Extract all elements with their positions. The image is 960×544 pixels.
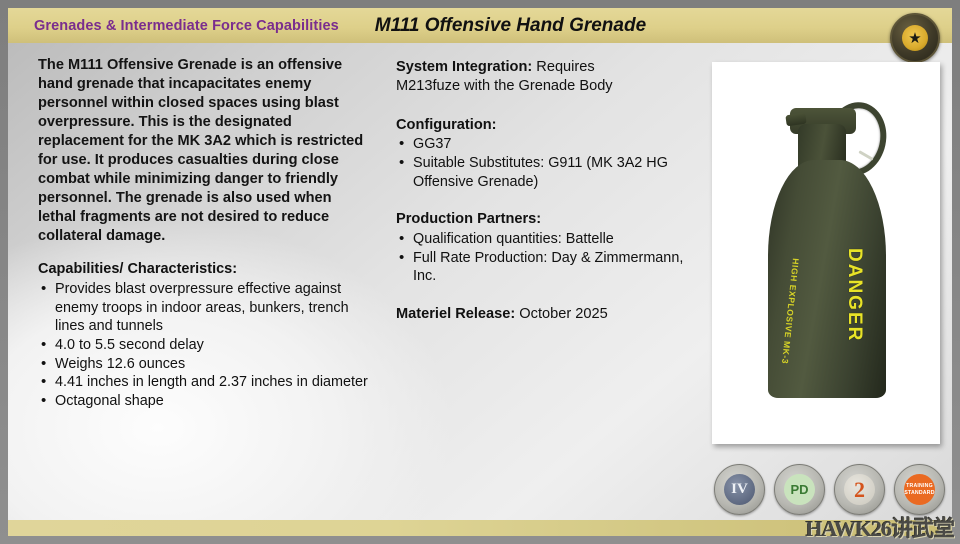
slide-canvas: Grenades & Intermediate Force Capabiliti… [0,0,960,544]
materiel-release-section: Materiel Release: October 2025 [396,305,701,324]
capabilities-heading: Capabilities/ Characteristics: [38,260,373,279]
system-integration-section: System Integration: Requires M213fuze wi… [396,58,701,97]
badge-level-2: 2 [834,464,885,515]
list-item: Full Rate Production: Day & Zimmermann, … [396,249,701,286]
production-heading: Production Partners: [396,210,701,229]
badge-label: PD [784,474,815,505]
badge-acquisition-category-iv: IV [714,464,765,515]
list-item: Qualification quantities: Battelle [396,230,701,249]
configuration-heading: Configuration: [396,116,701,135]
list-item: 4.0 to 5.5 second delay [38,336,373,355]
list-item: 4.41 inches in length and 2.37 inches in… [38,373,373,392]
list-item: Weighs 12.6 ounces [38,355,373,374]
left-column: The M111 Offensive Grenade is an offensi… [38,56,373,411]
slide-header: Grenades & Intermediate Force Capabiliti… [8,8,952,43]
badge-label: IV [724,474,755,505]
badge-pd: PD [774,464,825,515]
badge-label: TRAINING STANDARD [904,474,935,505]
badge-label: 2 [844,474,875,505]
list-item: Octagonal shape [38,392,373,411]
certification-badges: IV PD 2 TRAINING STANDARD [714,464,945,515]
system-integration-line1: System Integration: Requires [396,58,701,77]
page-title: M111 Offensive Hand Grenade [375,15,646,37]
materiel-release-line: Materiel Release: October 2025 [396,305,701,324]
m111-grenade-photo: DANGER HIGH EXPLOSIVE MK-3 [712,62,940,444]
description-text: The M111 Offensive Grenade is an offensi… [38,56,373,246]
list-item: Provides blast overpressure effective ag… [38,280,373,336]
configuration-list: GG37 Suitable Substitutes: G911 (MK 3A2 … [396,135,701,191]
danger-marking: DANGER [843,248,865,342]
army-star-seal-icon: ★ [890,13,940,63]
grenade-illustration: DANGER HIGH EXPLOSIVE MK-3 [712,62,940,444]
watermark: HAWK26讲武堂 [805,511,954,543]
materiel-release-label: Materiel Release: [396,306,515,322]
seal-soldier-glyph: ★ [902,25,928,51]
capabilities-list: Provides blast overpressure effective ag… [38,280,373,411]
slide-page: Grenades & Intermediate Force Capabiliti… [8,8,952,536]
list-item: Suitable Substitutes: G911 (MK 3A2 HG Of… [396,154,701,191]
materiel-release-value: October 2025 [515,306,608,322]
system-integration-label: System Integration: [396,59,532,75]
program-title: Grenades & Intermediate Force Capabiliti… [34,18,339,34]
production-list: Qualification quantities: Battelle Full … [396,230,701,286]
badge-training-standard: TRAINING STANDARD [894,464,945,515]
list-item: GG37 [396,135,701,154]
system-integration-line2: M213fuze with the Grenade Body [396,77,701,96]
capabilities-section: Capabilities/ Characteristics: Provides … [38,260,373,411]
configuration-section: Configuration: GG37 Suitable Substitutes… [396,116,701,192]
production-partners-section: Production Partners: Qualification quant… [396,210,701,286]
system-integration-value: Requires [532,59,594,75]
middle-column: System Integration: Requires M213fuze wi… [396,58,701,324]
